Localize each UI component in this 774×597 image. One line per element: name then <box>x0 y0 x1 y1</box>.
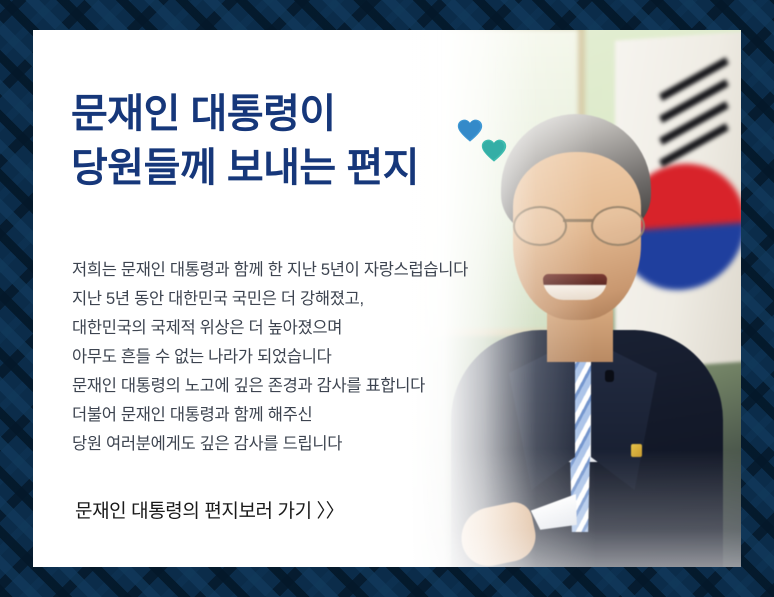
page-title: 문재인 대통령이 당원들께 보내는 편지 <box>71 88 419 195</box>
banner-card: 문재인 대통령이 당원들께 보내는 편지 저희는 문재인 대통령과 함께 한 지… <box>33 30 741 567</box>
banner-root: 문재인 대통령이 당원들께 보내는 편지 저희는 문재인 대통령과 함께 한 지… <box>0 0 774 597</box>
heart-icon <box>481 138 507 164</box>
read-letter-link[interactable]: 문재인 대통령의 편지보러 가기 〉〉 <box>75 496 344 523</box>
body-paragraph: 저희는 문재인 대통령과 함께 한 지난 5년이 자랑스럽습니다 지난 5년 동… <box>72 256 468 459</box>
heart-icon <box>457 118 483 144</box>
heart-decoration-group <box>455 118 519 182</box>
